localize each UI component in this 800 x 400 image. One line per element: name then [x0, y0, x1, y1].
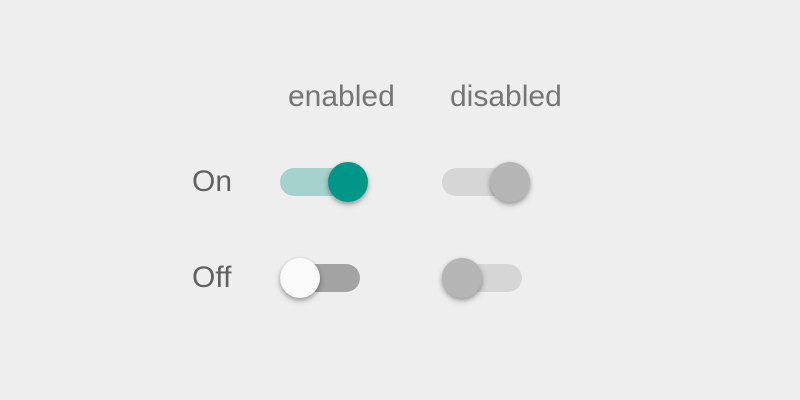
switch-thumb[interactable]	[328, 162, 368, 202]
column-header-enabled: enabled	[288, 82, 395, 112]
column-header-disabled: disabled	[450, 82, 562, 112]
switch-thumb[interactable]	[280, 258, 320, 298]
switch-off-enabled[interactable]	[280, 250, 380, 306]
row-label-off: Off	[192, 263, 231, 293]
switch-on-enabled[interactable]	[280, 154, 380, 210]
row-label-on: On	[192, 167, 232, 197]
switch-thumb	[442, 258, 482, 298]
switch-on-disabled	[442, 154, 542, 210]
switch-off-disabled	[442, 250, 542, 306]
switch-state-matrix: enabled disabled On Off	[0, 0, 800, 400]
switch-thumb	[490, 162, 530, 202]
